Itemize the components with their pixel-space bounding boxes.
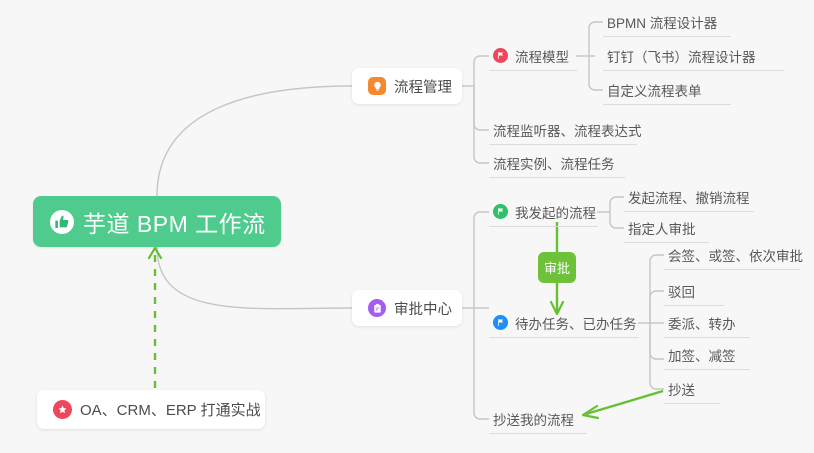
item-cc-to-me[interactable]: 抄送我的流程	[489, 404, 587, 434]
connector-model-to-bpmn	[589, 22, 603, 56]
item-add-remove-sign[interactable]: 加签、减签	[664, 340, 750, 370]
root-node[interactable]: 芋道 BPM 工作流	[33, 196, 281, 247]
item-label-bpmn-designer: BPMN 流程设计器	[607, 12, 717, 32]
item-label-countersign: 会签、或签、依次审批	[668, 245, 803, 265]
bottom-note-label: OA、CRM、ERP 打通实战	[80, 399, 261, 420]
connector-lcgl-to-model	[474, 56, 489, 86]
item-label-reject: 驳回	[668, 281, 695, 301]
arrow-note-to-root	[149, 248, 161, 388]
connector-todo-to-addsign	[650, 323, 664, 359]
bottom-note-card[interactable]: OA、CRM、ERP 打通实战	[37, 390, 265, 429]
item-label-liuchengmoxing: 流程模型	[515, 46, 569, 66]
item-label-delegate-transfer: 委派、转办	[668, 313, 736, 333]
connector-root-to-liuchengguanli	[157, 86, 352, 196]
clipboard-icon	[368, 299, 386, 317]
connector-todo-to-reject	[650, 291, 664, 323]
flag-green-icon	[493, 204, 508, 219]
item-label-cc-to-me: 抄送我的流程	[493, 409, 574, 429]
item-reject[interactable]: 驳回	[664, 276, 724, 306]
branch-label-liuchengguanli: 流程管理	[394, 76, 452, 97]
item-dingtalk-designer[interactable]: 钉钉（飞书）流程设计器	[603, 41, 784, 71]
approve-tag-label: 审批	[544, 258, 570, 277]
item-assignee-approve[interactable]: 指定人审批	[624, 213, 709, 243]
item-instance-task[interactable]: 流程实例、流程任务	[489, 148, 625, 178]
connector-spzx-to-ccme	[474, 308, 489, 419]
item-custom-form[interactable]: 自定义流程表单	[603, 75, 731, 105]
item-label-my-initiated: 我发起的流程	[515, 202, 596, 222]
thumbs-up-icon	[50, 210, 74, 234]
flag-red-icon	[493, 48, 508, 63]
connector-root-to-shenpizhongxin	[157, 247, 352, 309]
item-listener-expression[interactable]: 流程监听器、流程表达式	[489, 115, 637, 145]
item-label-cc: 抄送	[668, 379, 695, 399]
item-liuchengmoxing[interactable]: 流程模型	[489, 41, 577, 71]
branch-node-shenpizhongxin[interactable]: 审批中心	[352, 290, 462, 326]
item-label-assignee-approve: 指定人审批	[628, 218, 696, 238]
item-label-listener-expression: 流程监听器、流程表达式	[493, 120, 642, 140]
lightbulb-icon	[368, 77, 386, 95]
connector-lcgl-to-instance	[474, 86, 489, 163]
item-label-start-cancel: 发起流程、撤销流程	[628, 187, 750, 207]
item-my-initiated[interactable]: 我发起的流程	[489, 197, 598, 227]
connector-lcgl-to-listener	[474, 86, 489, 130]
branch-node-liuchengguanli[interactable]: 流程管理	[352, 68, 462, 104]
item-cc[interactable]: 抄送	[664, 374, 720, 404]
connector-mine-to-start	[610, 197, 624, 212]
item-todo-done[interactable]: 待办任务、已办任务	[489, 308, 639, 338]
arrow-cc-to-ccme	[583, 391, 663, 418]
mindmap-canvas: 芋道 BPM 工作流 流程管理 流程模型 BPMN 流程设计器 钉钉（飞书）流程…	[0, 0, 814, 453]
item-label-instance-task: 流程实例、流程任务	[493, 153, 615, 173]
item-countersign[interactable]: 会签、或签、依次审批	[664, 240, 800, 270]
connector-todo-to-countersign	[650, 255, 664, 323]
item-start-cancel[interactable]: 发起流程、撤销流程	[624, 182, 754, 212]
flag-blue-icon	[493, 315, 508, 330]
connector-spzx-to-mine	[474, 212, 489, 308]
connector-model-to-form	[589, 56, 603, 90]
item-label-dingtalk-designer: 钉钉（飞书）流程设计器	[607, 46, 756, 66]
root-label: 芋道 BPM 工作流	[83, 205, 266, 239]
item-label-custom-form: 自定义流程表单	[607, 80, 702, 100]
star-icon	[53, 400, 72, 419]
approve-tag[interactable]: 审批	[538, 252, 576, 283]
item-label-todo-done: 待办任务、已办任务	[515, 313, 637, 333]
connector-mine-to-assignee	[610, 212, 624, 228]
item-delegate-transfer[interactable]: 委派、转办	[664, 308, 750, 338]
item-bpmn-designer[interactable]: BPMN 流程设计器	[603, 7, 731, 37]
branch-label-shenpizhongxin: 审批中心	[394, 298, 452, 319]
item-label-add-remove-sign: 加签、减签	[668, 345, 736, 365]
connector-todo-to-cc	[650, 323, 664, 389]
